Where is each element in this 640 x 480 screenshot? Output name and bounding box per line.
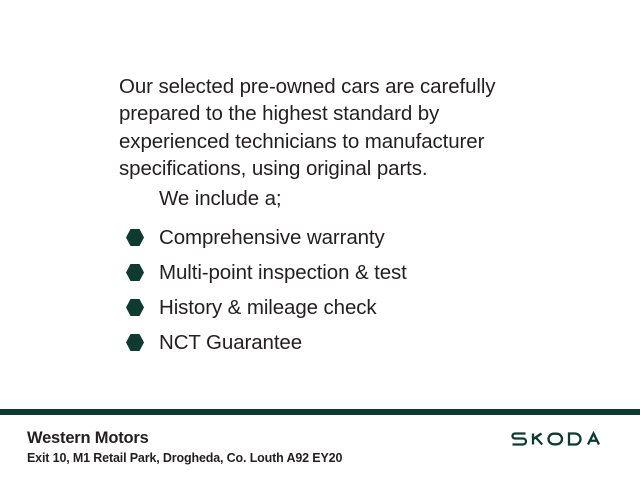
hexagon-bullet-icon [126, 334, 144, 352]
dealer-name: Western Motors [27, 429, 149, 448]
list-item: Comprehensive warranty [119, 220, 589, 255]
hexagon-bullet-icon [126, 299, 144, 317]
hexagon-bullet-icon [126, 229, 144, 247]
advert-card: Our selected pre-owned cars are carefull… [0, 0, 640, 480]
list-item: History & mileage check [119, 290, 589, 325]
benefit-label: Comprehensive warranty [159, 226, 385, 250]
benefits-list: Comprehensive warranty Multi-point inspe… [119, 220, 589, 360]
dealer-address: Exit 10, M1 Retail Park, Drogheda, Co. L… [27, 451, 342, 465]
skoda-wordmark-logo [511, 429, 609, 449]
benefit-label: Multi-point inspection & test [159, 261, 407, 285]
footer: Western Motors Exit 10, M1 Retail Park, … [0, 415, 640, 480]
hexagon-bullet-icon [126, 264, 144, 282]
benefit-label: NCT Guarantee [159, 331, 302, 355]
intro-paragraph: Our selected pre-owned cars are carefull… [119, 73, 549, 183]
list-item: NCT Guarantee [119, 325, 589, 360]
benefit-label: History & mileage check [159, 296, 377, 320]
include-heading: We include a; [159, 186, 282, 212]
list-item: Multi-point inspection & test [119, 255, 589, 290]
